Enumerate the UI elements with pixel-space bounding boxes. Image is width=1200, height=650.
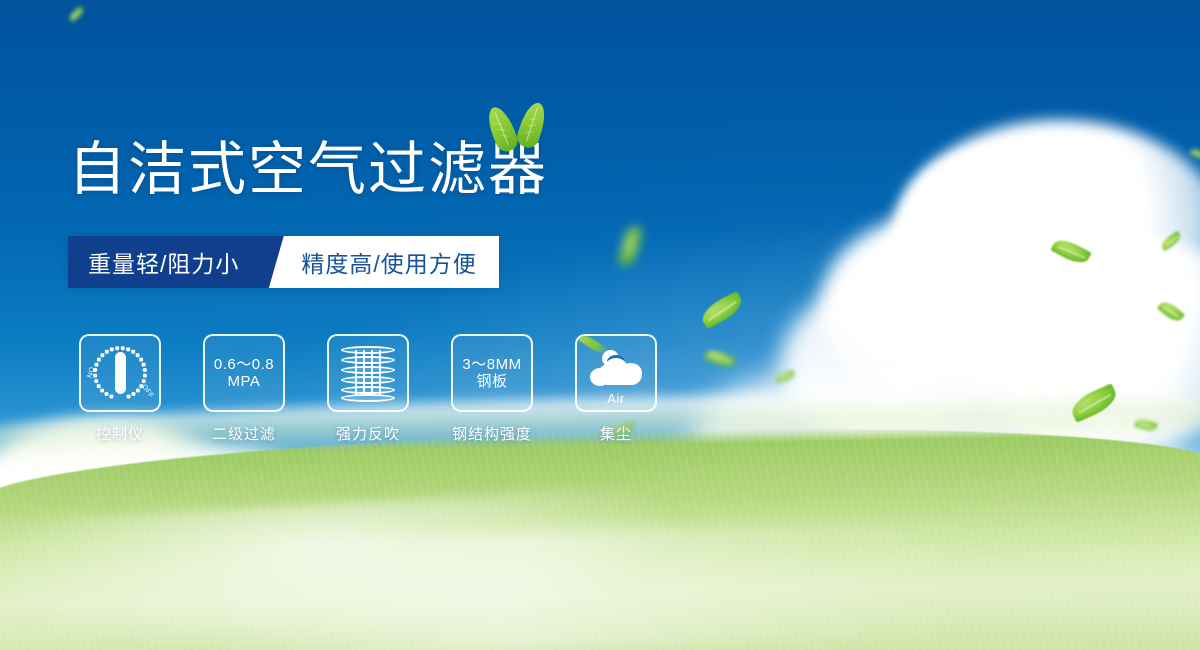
steel-plate-icon: 3〜8MM 钢板 [462, 356, 521, 391]
gauge-tick-dot [105, 350, 108, 353]
gauge-tick-dot [127, 395, 130, 398]
gauge-tick-dot [97, 385, 100, 388]
gauge-tick-dot [110, 348, 113, 351]
feature-list: NO OFF 控制仪 0.6〜0.8 MPA 二级过滤 [70, 334, 666, 444]
feature-item-two-stage-filter[interactable]: 0.6〜0.8 MPA 二级过滤 [194, 334, 294, 444]
feature-item-controller[interactable]: NO OFF 控制仪 [70, 334, 170, 444]
sprout-leaf-right [514, 100, 549, 151]
gauge-tick-dot [132, 350, 135, 353]
gauge-tick-dot [140, 358, 143, 361]
subtitle-segment-right: 精度高/使用方便 [295, 236, 498, 288]
feature-icon-box: Air [575, 334, 657, 412]
sprout-leaves-icon [473, 98, 563, 156]
headline-block: 自洁式空气过滤器 [68, 138, 548, 203]
air-label: Air [582, 391, 650, 406]
gauge-tick-dot [97, 358, 100, 361]
gauge-tick-dot [116, 347, 119, 350]
feature-label: 集尘 [600, 423, 632, 444]
gauge-tick-dot [121, 347, 124, 350]
feature-label: 二级过滤 [212, 423, 276, 444]
gauge-tick-dot [143, 374, 146, 377]
pressure-text-icon: 0.6〜0.8 MPA [214, 356, 274, 391]
gauge-tick-dot [95, 363, 98, 366]
pressure-value: 0.6〜0.8 [214, 356, 274, 373]
promo-banner: 自洁式空气过滤器 重量轻/阻力小 精度高/使用方便 NO OFF 控制仪 0.6… [0, 0, 1200, 650]
feature-item-dust-collection[interactable]: Air 集尘 [566, 334, 666, 444]
gauge-tick-dot [142, 363, 145, 366]
gauge-tick-dot [136, 354, 139, 357]
feature-label: 强力反吹 [336, 423, 400, 444]
feature-item-steel-strength[interactable]: 3〜8MM 钢板 钢结构强度 [442, 334, 542, 444]
feature-icon-box [327, 334, 409, 412]
gauge-tick-dot [94, 368, 97, 371]
gauge-tick-dot [127, 348, 130, 351]
gauge-switch-icon: NO OFF [88, 343, 152, 403]
gauge-tick-dot [136, 389, 139, 392]
filter-coil-icon [341, 344, 395, 402]
gauge-tick-dot [143, 368, 146, 371]
sprout-leaf-left [483, 104, 521, 155]
cloud-body [598, 364, 642, 385]
gauge-tick-dot [101, 354, 104, 357]
gauge-tick-dot [142, 380, 145, 383]
cloud-air-icon: Air [582, 342, 650, 404]
feature-icon-box: 0.6〜0.8 MPA [203, 334, 285, 412]
pressure-unit: MPA [214, 373, 274, 390]
feature-label: 控制仪 [96, 423, 144, 444]
feature-label: 钢结构强度 [452, 423, 532, 444]
steel-thickness: 3〜8MM [462, 356, 521, 373]
subtitle-divider [261, 236, 295, 288]
gauge-tick-dot [110, 395, 113, 398]
steel-material: 钢板 [462, 373, 521, 390]
gauge-tick-dot [101, 389, 104, 392]
gauge-tick-dot [95, 380, 98, 383]
feature-item-back-blow[interactable]: 强力反吹 [318, 334, 418, 444]
gauge-tick-dot [105, 392, 108, 395]
feature-icon-box: NO OFF [79, 334, 161, 412]
gauge-toggle-bar [115, 352, 126, 394]
gauge-tick-dot [132, 392, 135, 395]
gauge-tick-dot [94, 374, 97, 377]
feature-icon-box: 3〜8MM 钢板 [451, 334, 533, 412]
subtitle-segment-left: 重量轻/阻力小 [68, 236, 261, 288]
subtitle-bar: 重量轻/阻力小 精度高/使用方便 [68, 236, 499, 288]
